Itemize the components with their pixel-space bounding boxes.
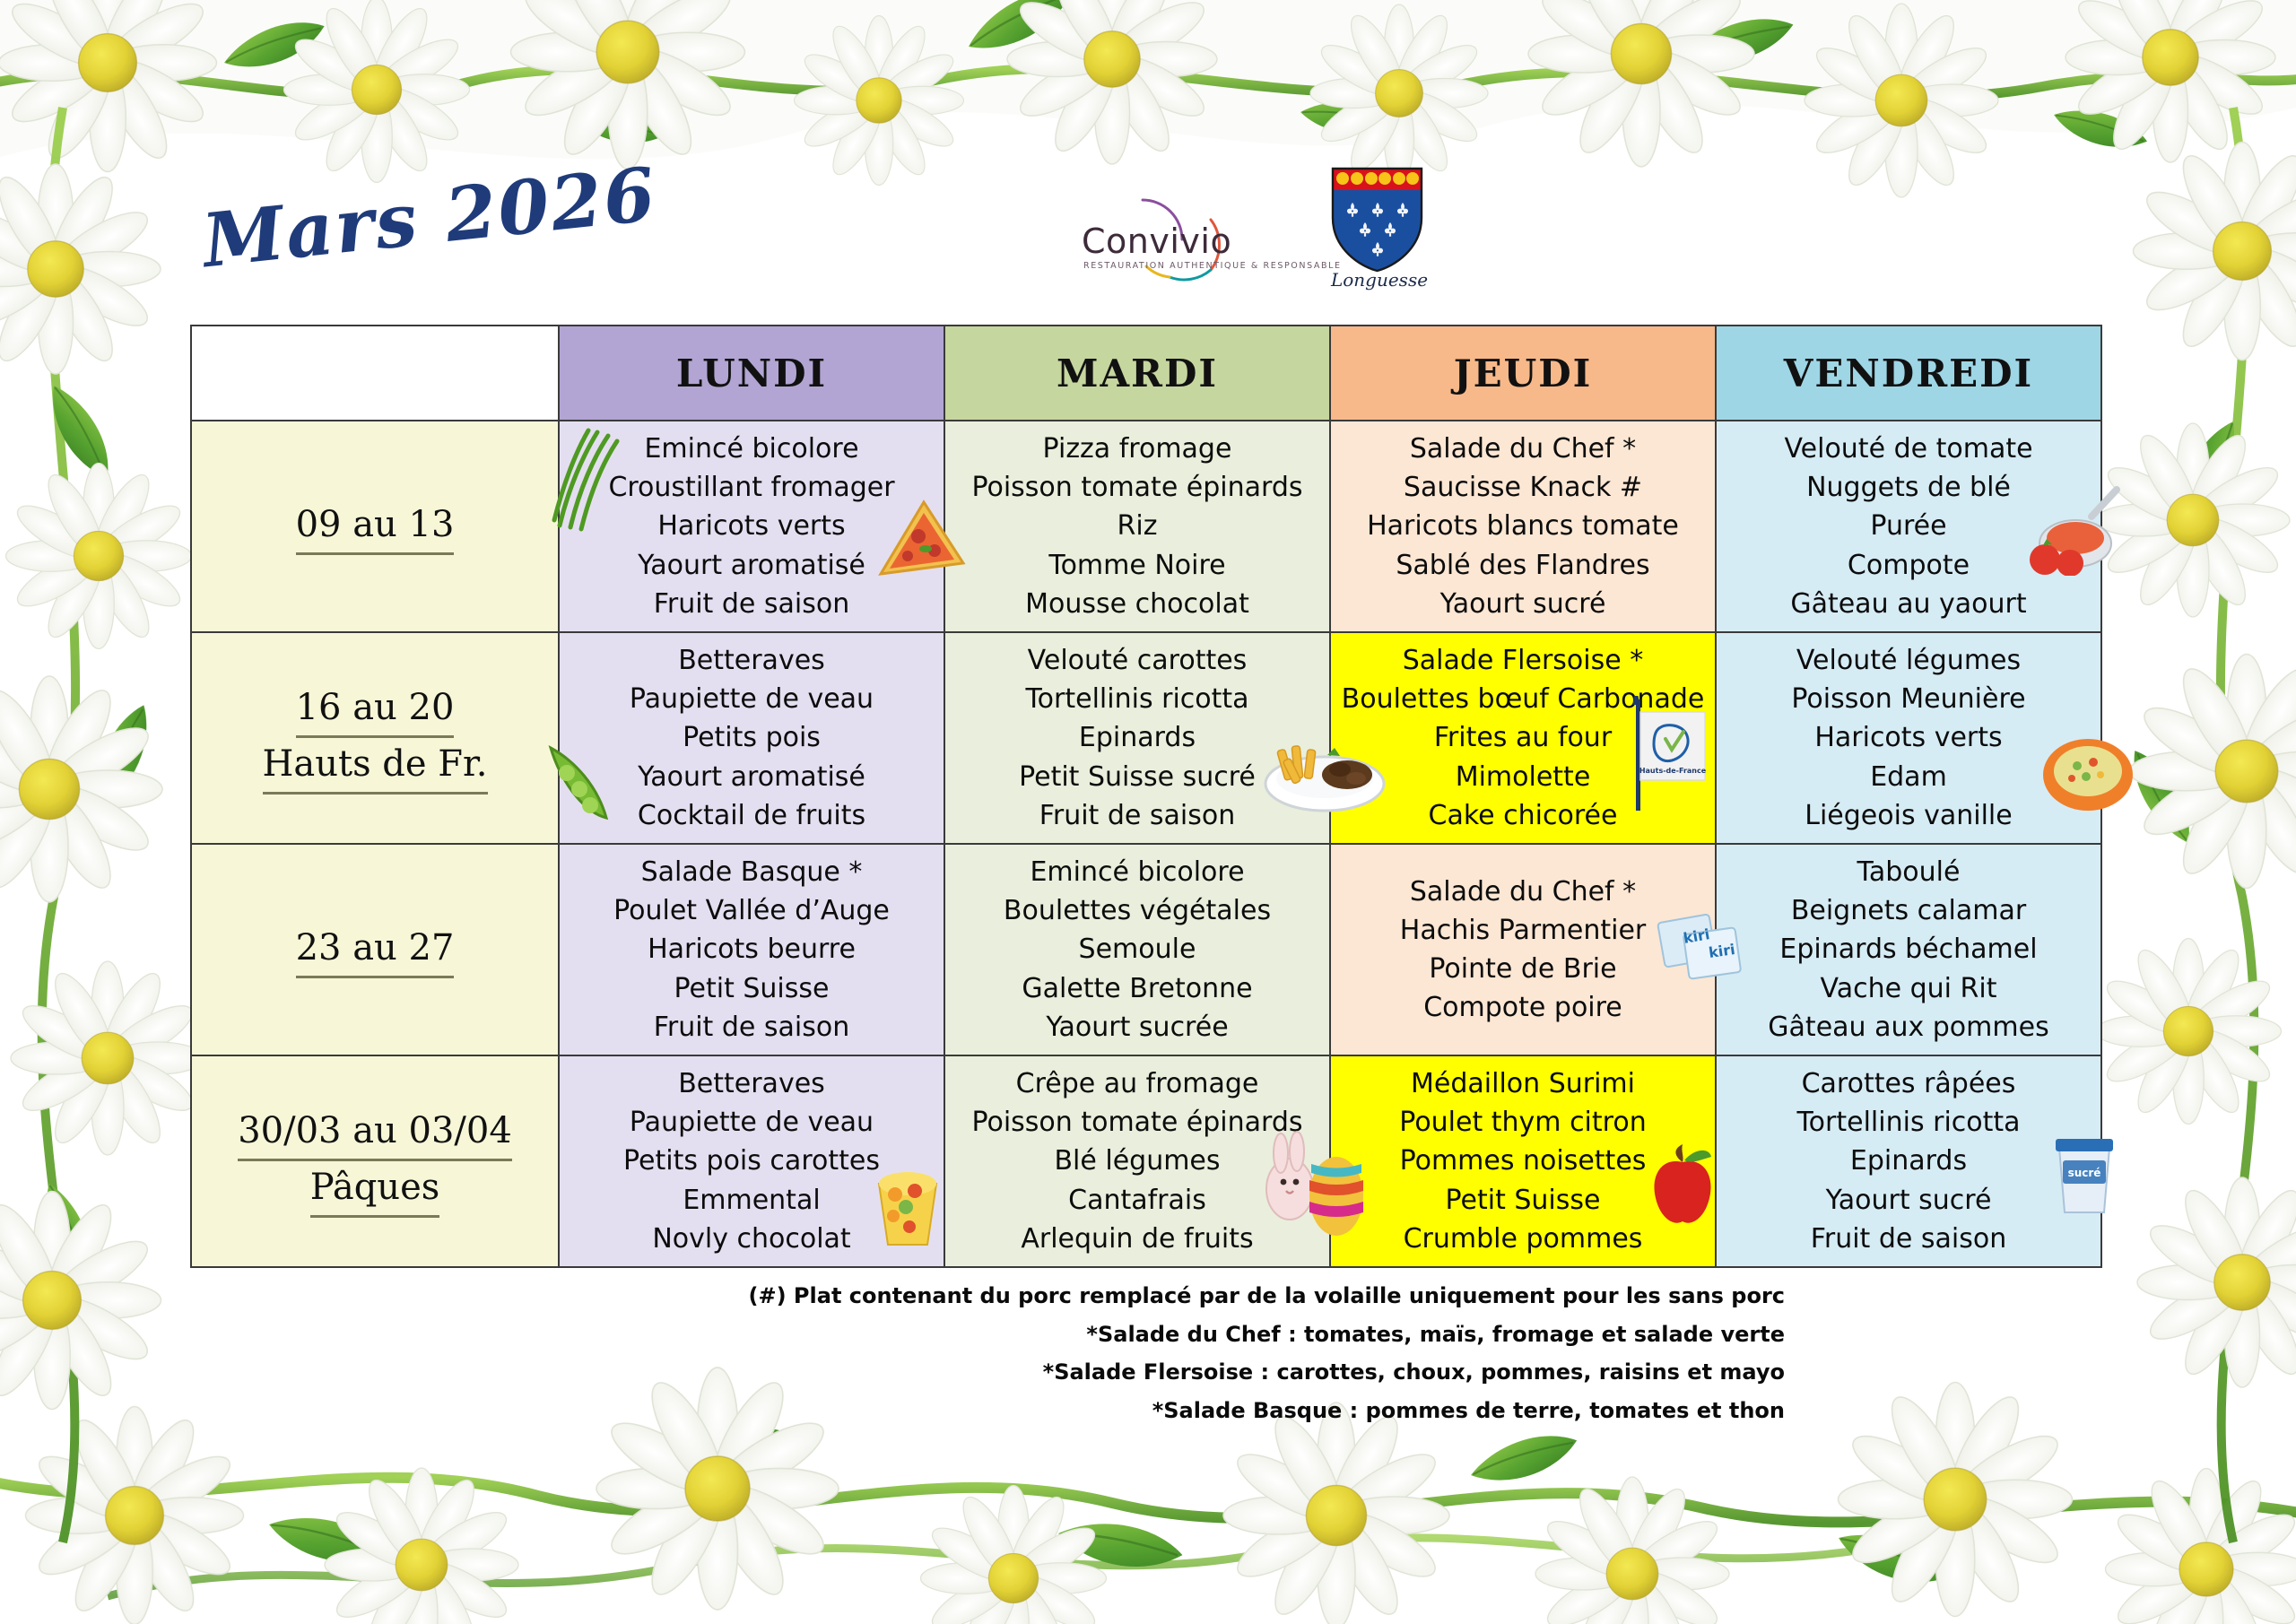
menu-dish: Gâteau aux pommes bbox=[1717, 1008, 2100, 1046]
menu-dish: Poisson Meunière bbox=[1717, 680, 2100, 718]
menu-dish: Tortellinis ricotta bbox=[945, 680, 1329, 718]
menu-cell-jeudi: Salade du Chef *Saucisse Knack #Haricots… bbox=[1330, 421, 1716, 632]
menu-dish: Emincé bicolore bbox=[945, 853, 1329, 891]
convivio-logo: Convivio RESTAURATION AUTHENTIQUE & RESP… bbox=[1076, 184, 1291, 282]
menu-dish: Fruit de saison bbox=[560, 1008, 944, 1046]
week-label: 23 au 27 bbox=[192, 918, 558, 982]
menu-dish: Mousse chocolat bbox=[945, 585, 1329, 623]
header-vendredi: VENDREDI bbox=[1716, 326, 2101, 421]
menu-dish: Salade Flersoise * bbox=[1331, 641, 1715, 680]
week-label: 30/03 au 03/04Pâques bbox=[192, 1101, 558, 1221]
menu-dish: Saucisse Knack # bbox=[1331, 468, 1715, 507]
convivio-brand-text: Convivio bbox=[1082, 221, 1231, 261]
header-jeudi: JEUDI bbox=[1330, 326, 1716, 421]
menu-dish: Salade du Chef * bbox=[1331, 873, 1715, 911]
menu-dish: Gâteau au yaourt bbox=[1717, 585, 2100, 623]
menu-dish: Epinards bbox=[945, 718, 1329, 757]
menu-dish: Mimolette bbox=[1331, 758, 1715, 796]
week-label-cell: 16 au 20Hauts de Fr. bbox=[191, 632, 559, 844]
menu-dish: Hachis Parmentier bbox=[1331, 911, 1715, 950]
menu-dish: Semoule bbox=[945, 930, 1329, 968]
menu-dish: Pommes noisettes bbox=[1331, 1142, 1715, 1180]
menu-dish: Yaourt aromatisé bbox=[560, 758, 944, 796]
menu-cell-mardi: Velouté carottesTortellinis ricottaEpina… bbox=[944, 632, 1330, 844]
footnote-salade-basque: *Salade Basque : pommes de terre, tomate… bbox=[0, 1392, 1785, 1430]
menu-dish: Beignets calamar bbox=[1717, 891, 2100, 930]
menu-dish: Arlequin de fruits bbox=[945, 1220, 1329, 1258]
menu-cell-vendredi: TabouléBeignets calamarEpinards béchamel… bbox=[1716, 844, 2101, 1055]
menu-dish: Haricots beurre bbox=[560, 930, 944, 968]
header-corner-empty bbox=[191, 326, 559, 421]
menu-cell-vendredi: Carottes râpéesTortellinis ricottaEpinar… bbox=[1716, 1055, 2101, 1267]
menu-dish: Boulettes bœuf Carbonade bbox=[1331, 680, 1715, 718]
menu-dish: Poisson tomate épinards bbox=[945, 468, 1329, 507]
menu-dish: Tomme Noire bbox=[945, 546, 1329, 585]
menu-dish: Betteraves bbox=[560, 1064, 944, 1103]
footnote-salade-chef: *Salade du Chef : tomates, maïs, fromage… bbox=[0, 1316, 1785, 1354]
menu-dish: Haricots verts bbox=[560, 507, 944, 545]
menu-dish: Emmental bbox=[560, 1181, 944, 1220]
menu-dish: Croustillant fromager bbox=[560, 468, 944, 507]
menu-dish: Boulettes végétales bbox=[945, 891, 1329, 930]
menu-dish: Taboulé bbox=[1717, 853, 2100, 891]
menu-cell-vendredi: Velouté de tomateNuggets de bléPuréeComp… bbox=[1716, 421, 2101, 632]
menu-dish: Tortellinis ricotta bbox=[1717, 1103, 2100, 1142]
menu-cell-jeudi: Médaillon SurimiPoulet thym citronPommes… bbox=[1330, 1055, 1716, 1267]
menu-dish: Fruit de saison bbox=[945, 796, 1329, 835]
menu-dish: Riz bbox=[945, 507, 1329, 545]
menu-cell-lundi: Emincé bicoloreCroustillant fromagerHari… bbox=[559, 421, 944, 632]
header-lundi: LUNDI bbox=[559, 326, 944, 421]
table-row: 16 au 20Hauts de Fr.BetteravesPaupiette … bbox=[191, 632, 2101, 844]
table-row: 09 au 13Emincé bicoloreCroustillant from… bbox=[191, 421, 2101, 632]
menu-dish: Galette Bretonne bbox=[945, 969, 1329, 1008]
menu-dish: Velouté légumes bbox=[1717, 641, 2100, 680]
footnote-salade-flersoise: *Salade Flersoise : carottes, choux, pom… bbox=[0, 1353, 1785, 1392]
menu-dish: Novly chocolat bbox=[560, 1220, 944, 1258]
menu-cell-jeudi: Salade Flersoise *Boulettes bœuf Carbona… bbox=[1330, 632, 1716, 844]
convivio-tagline: RESTAURATION AUTHENTIQUE & RESPONSABLE bbox=[1083, 261, 1342, 271]
menu-dish: Petits pois carottes bbox=[560, 1142, 944, 1180]
menu-dish: Vache qui Rit bbox=[1717, 969, 2100, 1008]
menu-dish: Carottes râpées bbox=[1717, 1064, 2100, 1103]
menu-dish: Poulet thym citron bbox=[1331, 1103, 1715, 1142]
menu-dish: Poisson tomate épinards bbox=[945, 1103, 1329, 1142]
menu-cell-mardi: Emincé bicoloreBoulettes végétalesSemoul… bbox=[944, 844, 1330, 1055]
menu-dish: Edam bbox=[1717, 758, 2100, 796]
page-title: Mars 2026 bbox=[198, 152, 660, 285]
menu-cell-jeudi: Salade du Chef *Hachis ParmentierPointe … bbox=[1330, 844, 1716, 1055]
menu-dish: Blé légumes bbox=[945, 1142, 1329, 1180]
footnotes-block: (#) Plat contenant du porc remplacé par … bbox=[0, 1277, 1785, 1430]
menu-dish: Compote poire bbox=[1331, 988, 1715, 1027]
week-label-cell: 09 au 13 bbox=[191, 421, 559, 632]
menu-dish: Epinards béchamel bbox=[1717, 930, 2100, 968]
table-row: 30/03 au 03/04PâquesBetteravesPaupiette … bbox=[191, 1055, 2101, 1267]
week-label-line: Pâques bbox=[201, 1161, 549, 1218]
menu-dish: Petits pois bbox=[560, 718, 944, 757]
week-label-line: 16 au 20 bbox=[201, 682, 549, 738]
menu-dish: Pizza fromage bbox=[945, 430, 1329, 468]
footnote-pork: (#) Plat contenant du porc remplacé par … bbox=[0, 1277, 1785, 1316]
menu-dish: Cocktail de fruits bbox=[560, 796, 944, 835]
week-label-line: Hauts de Fr. bbox=[201, 738, 549, 795]
week-label-cell: 23 au 27 bbox=[191, 844, 559, 1055]
menu-dish: Pointe de Brie bbox=[1331, 950, 1715, 988]
menu-dish: Yaourt sucrée bbox=[945, 1008, 1329, 1046]
menu-dish: Purée bbox=[1717, 507, 2100, 545]
menu-dish: Fruit de saison bbox=[560, 585, 944, 623]
menu-dish: Nuggets de blé bbox=[1717, 468, 2100, 507]
week-label-line: 23 au 27 bbox=[201, 922, 549, 978]
menu-dish: Emincé bicolore bbox=[560, 430, 944, 468]
week-label: 09 au 13 bbox=[192, 495, 558, 559]
menu-dish: Cake chicorée bbox=[1331, 796, 1715, 835]
longuesse-coat-of-arms-icon bbox=[1330, 166, 1424, 274]
menu-dish: Betteraves bbox=[560, 641, 944, 680]
menu-dish: Poulet Vallée d’Auge bbox=[560, 891, 944, 930]
menu-dish: Compote bbox=[1717, 546, 2100, 585]
menu-dish: Frites au four bbox=[1331, 718, 1715, 757]
menu-dish: Petit Suisse bbox=[560, 969, 944, 1008]
week-label-cell: 30/03 au 03/04Pâques bbox=[191, 1055, 559, 1267]
menu-table: LUNDI MARDI JEUDI VENDREDI 09 au 13Eminc… bbox=[190, 325, 2102, 1268]
menu-dish: Crumble pommes bbox=[1331, 1220, 1715, 1258]
menu-dish: Yaourt sucré bbox=[1331, 585, 1715, 623]
menu-dish: Velouté de tomate bbox=[1717, 430, 2100, 468]
menu-dish: Yaourt sucré bbox=[1717, 1181, 2100, 1220]
menu-dish: Liégeois vanille bbox=[1717, 796, 2100, 835]
menu-dish: Salade du Chef * bbox=[1331, 430, 1715, 468]
menu-cell-lundi: BetteravesPaupiette de veauPetits poisYa… bbox=[559, 632, 944, 844]
menu-dish: Paupiette de veau bbox=[560, 680, 944, 718]
menu-dish: Fruit de saison bbox=[1717, 1220, 2100, 1258]
menu-cell-mardi: Crêpe au fromagePoisson tomate épinardsB… bbox=[944, 1055, 1330, 1267]
menu-dish: Petit Suisse sucré bbox=[945, 758, 1329, 796]
menu-dish: Cantafrais bbox=[945, 1181, 1329, 1220]
menu-dish: Yaourt aromatisé bbox=[560, 546, 944, 585]
week-label-line: 09 au 13 bbox=[201, 499, 549, 555]
menu-cell-lundi: BetteravesPaupiette de veauPetits pois c… bbox=[559, 1055, 944, 1267]
menu-cell-lundi: Salade Basque *Poulet Vallée d’AugeHaric… bbox=[559, 844, 944, 1055]
menu-dish: Salade Basque * bbox=[560, 853, 944, 891]
commune-name: Longuesse bbox=[1326, 269, 1433, 291]
header-mardi: MARDI bbox=[944, 326, 1330, 421]
table-header-row: LUNDI MARDI JEUDI VENDREDI bbox=[191, 326, 2101, 421]
menu-cell-mardi: Pizza fromagePoisson tomate épinardsRizT… bbox=[944, 421, 1330, 632]
menu-cell-vendredi: Velouté légumesPoisson MeunièreHaricots … bbox=[1716, 632, 2101, 844]
week-label-line: 30/03 au 03/04 bbox=[201, 1105, 549, 1161]
menu-dish: Crêpe au fromage bbox=[945, 1064, 1329, 1103]
menu-dish: Paupiette de veau bbox=[560, 1103, 944, 1142]
menu-dish: Sablé des Flandres bbox=[1331, 546, 1715, 585]
menu-dish: Epinards bbox=[1717, 1142, 2100, 1180]
week-label: 16 au 20Hauts de Fr. bbox=[192, 678, 558, 798]
menu-dish: Petit Suisse bbox=[1331, 1181, 1715, 1220]
table-row: 23 au 27Salade Basque *Poulet Vallée d’A… bbox=[191, 844, 2101, 1055]
menu-dish: Haricots verts bbox=[1717, 718, 2100, 757]
menu-dish: Haricots blancs tomate bbox=[1331, 507, 1715, 545]
menu-dish: Médaillon Surimi bbox=[1331, 1064, 1715, 1103]
menu-dish: Velouté carottes bbox=[945, 641, 1329, 680]
